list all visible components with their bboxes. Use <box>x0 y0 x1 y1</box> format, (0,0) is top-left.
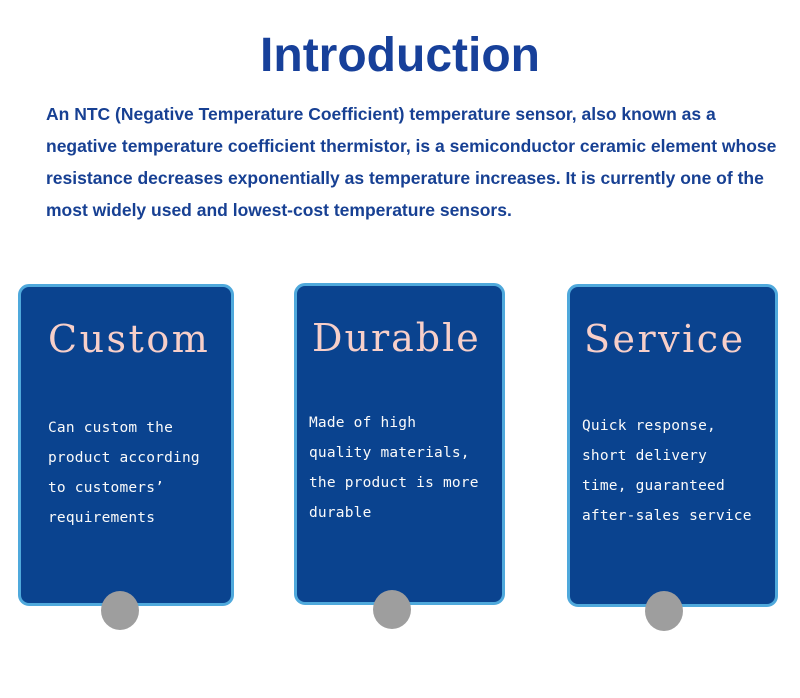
feature-card-body-line: to customers’ <box>48 473 238 503</box>
feature-card-body-line: the product is more <box>309 468 509 498</box>
page-title: Introduction <box>0 26 800 86</box>
feature-card-body: Made of high quality materials, the prod… <box>309 408 509 528</box>
intro-paragraph: An NTC (Negative Temperature Coefficient… <box>46 98 790 226</box>
feature-card-body: Quick response, short delivery time, gua… <box>582 411 782 531</box>
feature-card-body-line: Made of high <box>309 408 509 438</box>
feature-card-body-line: durable <box>309 498 509 528</box>
feature-card-heading: Service <box>584 317 746 361</box>
feature-card-body-line: product according <box>48 443 238 473</box>
circle-marker-icon <box>373 590 411 629</box>
feature-card-body: Can custom the product according to cust… <box>48 413 238 533</box>
feature-card-custom[interactable]: Custom Can custom the product according … <box>18 284 234 606</box>
feature-card-body-line: Can custom the <box>48 413 238 443</box>
introduction-slide: Introduction An NTC (Negative Temperatur… <box>0 0 800 698</box>
feature-card-body-line: short delivery <box>582 441 782 471</box>
feature-card-body-line: Quick response, <box>582 411 782 441</box>
feature-card-body-line: requirements <box>48 503 238 533</box>
feature-card-body-line: time, guaranteed <box>582 471 782 501</box>
feature-card-durable[interactable]: Durable Made of high quality materials, … <box>294 283 505 605</box>
feature-card-body-line: after-sales service <box>582 501 782 531</box>
circle-marker-icon <box>645 591 683 631</box>
feature-card-heading: Custom <box>48 317 210 361</box>
feature-card-service[interactable]: Service Quick response, short delivery t… <box>567 284 778 607</box>
feature-card-body-line: quality materials, <box>309 438 509 468</box>
feature-card-heading: Durable <box>312 316 481 360</box>
circle-marker-icon <box>101 591 139 630</box>
